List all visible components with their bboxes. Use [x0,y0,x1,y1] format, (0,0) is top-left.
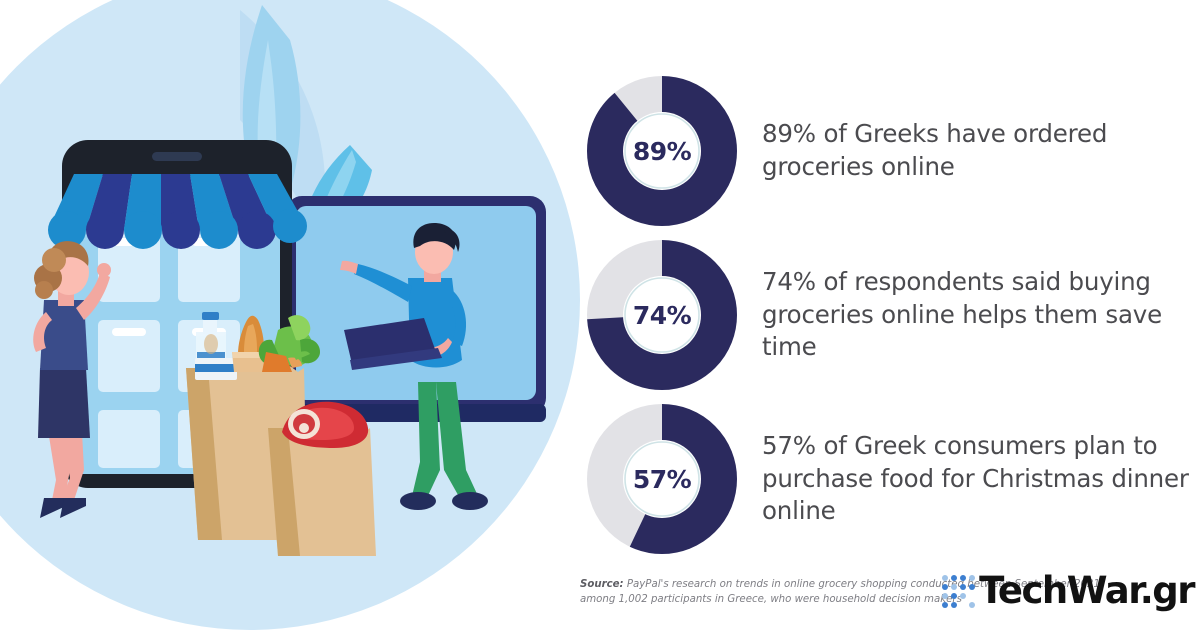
dot-grid-icon [942,575,975,608]
donut-chart-74: 74% [586,239,738,391]
stat-row: 74% 74% of respondents said buying groce… [580,236,1200,394]
stat-row: 89% 89% of Greeks have ordered groceries… [580,72,1200,230]
source-label: Source: [580,579,624,590]
online-grocery-shopping-illustration [0,0,580,630]
stat-caption: 74% of respondents said buying groceries… [738,266,1200,364]
infographic-page: 89% 89% of Greeks have ordered groceries… [0,0,1200,630]
donut-chart-89: 89% [586,75,738,227]
stat-row: 57% 57% of Greek consumers plan to purch… [580,400,1200,558]
stats-panel: 89% 89% of Greeks have ordered groceries… [580,0,1200,630]
grocery-box [195,358,237,380]
techwar-watermark: TechWar.gr [942,566,1194,614]
donut-chart-57: 57% [586,403,738,555]
stat-caption: 89% of Greeks have ordered groceries onl… [738,118,1200,183]
stat-caption: 57% of Greek consumers plan to purchase … [738,430,1200,528]
watermark-text: TechWar.gr [979,572,1194,609]
